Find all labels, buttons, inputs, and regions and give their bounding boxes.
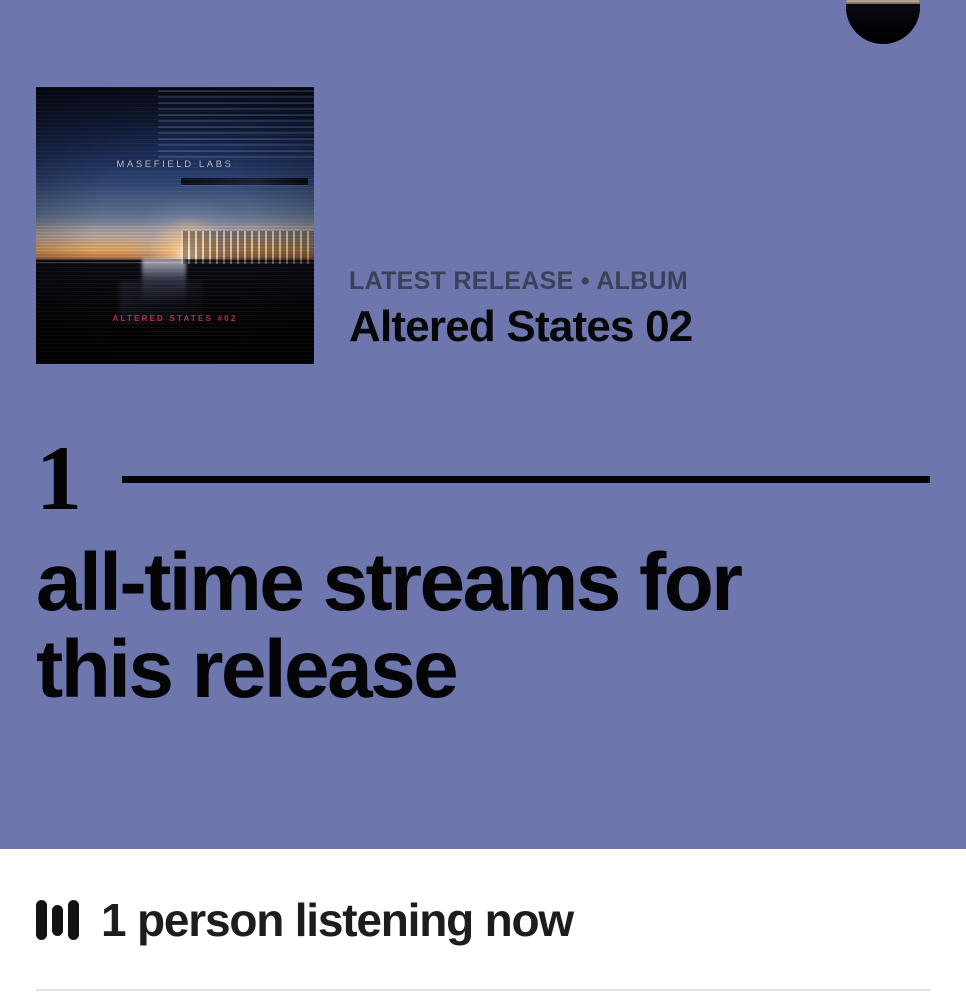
panel-divider: [36, 989, 930, 991]
stat-caption: all-time streams for this release: [36, 540, 866, 714]
equalizer-bar-2: [52, 905, 63, 936]
album-cover[interactable]: MASEFIELD LABS ALTERED STATES #02: [36, 87, 314, 364]
stat-value: 1: [36, 441, 80, 516]
album-cover-artwork: MASEFIELD LABS ALTERED STATES #02: [36, 87, 314, 364]
artwork-edition-mark: ALTERED STATES #02: [36, 314, 314, 323]
release-eyebrow: LATEST RELEASE • ALBUM: [349, 268, 909, 296]
artist-release-screen: MASEFIELD LABS ALTERED STATES #02 LATEST…: [0, 0, 966, 1000]
artwork-artist-mark: MASEFIELD LABS: [36, 159, 314, 170]
equalizer-bar-1: [36, 900, 47, 940]
hero-section: MASEFIELD LABS ALTERED STATES #02 LATEST…: [0, 0, 966, 849]
live-listeners-row[interactable]: 1 person listening now: [36, 897, 573, 943]
release-title[interactable]: Altered States 02: [349, 304, 909, 350]
equalizer-icon: [36, 898, 79, 942]
avatar-image-sea: [846, 4, 920, 44]
stat-row: 1: [36, 437, 930, 521]
artist-avatar[interactable]: [846, 0, 920, 44]
live-listeners-label: 1 person listening now: [101, 897, 573, 943]
release-meta: LATEST RELEASE • ALBUM Altered States 02: [349, 268, 909, 350]
now-playing-panel: 1 person listening now: [0, 849, 966, 1000]
equalizer-bar-3: [68, 900, 79, 940]
stat-rule: [122, 476, 930, 483]
